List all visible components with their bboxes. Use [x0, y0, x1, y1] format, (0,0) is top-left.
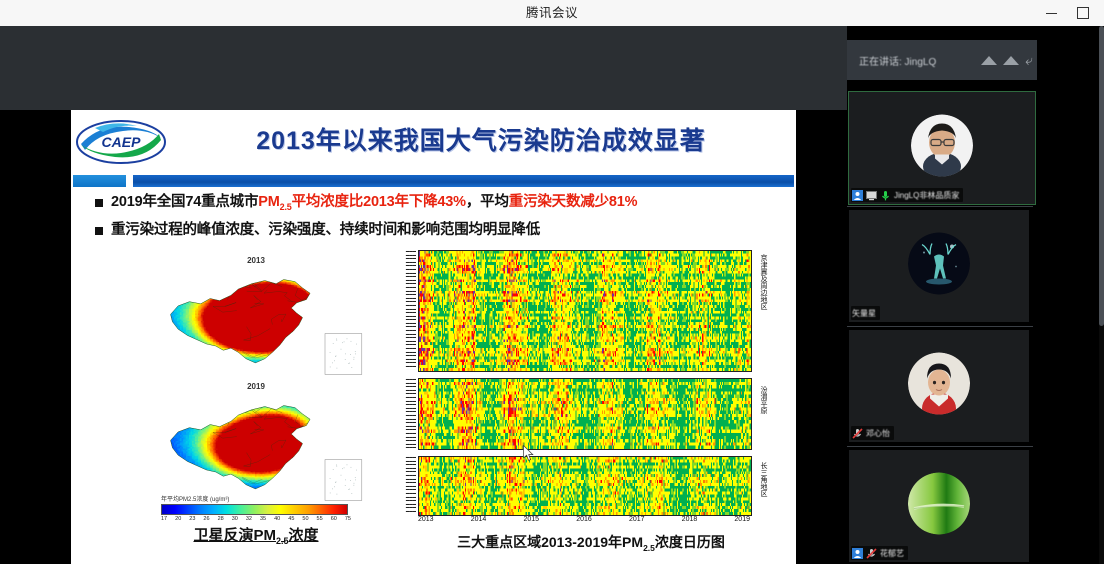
- colorbar-tick: 32: [246, 516, 252, 522]
- colorbar-gradient: [161, 504, 348, 515]
- mic-muted-icon: [866, 548, 877, 559]
- satellite-map-figure: 2013 2019 年平均PM2.5浓度 (ug/m³) 17202326283…: [131, 256, 381, 556]
- colorbar-tick: 45: [288, 516, 294, 522]
- colorbar-tick: 50: [302, 516, 308, 522]
- title-bar: 腾讯会议: [0, 0, 1104, 27]
- avatar: [908, 233, 970, 295]
- heatmap-panel-jingjinji: [418, 250, 752, 372]
- shared-screen-stage[interactable]: CAEP 2013年以来我国大气污染防治成效显著 2019年全国74重点城市PM…: [0, 26, 847, 564]
- x-tick: 2013: [418, 516, 434, 523]
- colorbar-tick: 75: [345, 516, 351, 522]
- participant-name-chip: JingLQ非林品质家: [851, 188, 963, 202]
- participants-sidebar: 正在讲话: JingLQ ⤶: [847, 26, 1104, 564]
- colorbar-tick: 60: [331, 516, 337, 522]
- back-arrow-icon[interactable]: ⤶: [1025, 53, 1033, 67]
- participant-name-chip: 矢量星: [851, 306, 880, 320]
- bullet-item: 重污染过程的峰值浓度、污染强度、持续时间和影响范围均明显降低: [95, 220, 785, 240]
- colorbar-title: 年平均PM2.5浓度 (ug/m³): [161, 494, 351, 503]
- active-speaker-bar: 正在讲话: JingLQ ⤶: [847, 40, 1037, 80]
- participant-name: JingLQ非林品质家: [894, 190, 959, 201]
- heatmap-ylabels-fenwei: ▬▬▬▬▬▬▬▬▬▬▬▬▬▬▬▬▬▬▬▬▬▬▬▬▬▬▬▬▬▬▬▬▬▬▬▬▬▬▬▬…: [398, 378, 416, 448]
- bullet-text-1: 2019年全国74重点城市PM2.5平均浓度比2013年下降43%，平均重污染天…: [111, 192, 637, 217]
- tile-divider: [847, 446, 1033, 447]
- region-label-jingjinji: 京津冀及周边地区: [756, 254, 770, 310]
- svg-text:CAEP: CAEP: [102, 134, 142, 150]
- colorbar-tick: 23: [189, 516, 195, 522]
- bullet-square-icon: [95, 199, 103, 207]
- x-tick: 2018: [682, 516, 698, 523]
- avatar: [911, 115, 973, 177]
- tencent-meeting-window: 腾讯会议 CAEP: [0, 0, 1104, 564]
- speaker-bar-controls: ⤶: [981, 53, 1037, 67]
- x-tick: 2019: [734, 516, 750, 523]
- heatmap-canvas-fenwei: [419, 379, 751, 449]
- bullet-square-icon: [95, 227, 103, 235]
- divider-bar-accent: [73, 175, 126, 187]
- active-speaker-label: 正在讲话: JingLQ: [847, 53, 936, 68]
- colorbar-ticks: 1720232628303235404550556075: [161, 516, 351, 522]
- participant-name-chip: 花郁艺: [851, 546, 908, 560]
- avatar: [908, 353, 970, 415]
- participant-name: 花郁艺: [880, 548, 904, 559]
- colorbar-tick: 35: [260, 516, 266, 522]
- slide-bullet-list: 2019年全国74重点城市PM2.5平均浓度比2013年下降43%，平均重污染天…: [95, 192, 785, 243]
- region-label-fenwei: 汾渭平原: [756, 386, 770, 414]
- tile-divider: [847, 326, 1033, 327]
- caep-logo-icon: CAEP: [75, 118, 167, 166]
- participant-name: 矢量星: [852, 308, 876, 319]
- x-tick: 2016: [576, 516, 592, 523]
- colorbar-tick: 30: [232, 516, 238, 522]
- avatar: [908, 473, 970, 535]
- participant-tile-2[interactable]: 邓心怡: [849, 330, 1029, 442]
- x-tick: 2015: [523, 516, 539, 523]
- host-icon: [852, 190, 863, 201]
- minimize-icon: [1046, 13, 1057, 14]
- bullet-text-2: 重污染过程的峰值浓度、污染强度、持续时间和影响范围均明显降低: [111, 220, 540, 240]
- x-tick: 2017: [629, 516, 645, 523]
- stage-letterbox-top: [0, 26, 847, 110]
- calendar-heatmap-figure: ▬▬▬▬▬▬▬▬▬▬▬▬▬▬▬▬▬▬▬▬▬▬▬▬▬▬▬▬▬▬▬▬▬▬▬▬▬▬▬▬…: [396, 250, 786, 550]
- heatmap-canvas-yangtze: [419, 457, 751, 515]
- colorbar-tick: 55: [317, 516, 323, 522]
- chevron-up-icon[interactable]: [1003, 56, 1019, 65]
- china-pm25-map-2013: [141, 264, 371, 384]
- slide-header: CAEP 2013年以来我国大气污染防治成效显著: [71, 110, 796, 172]
- presentation-slide: CAEP 2013年以来我国大气污染防治成效显著 2019年全国74重点城市PM…: [71, 110, 796, 564]
- maximize-icon: [1077, 7, 1089, 19]
- mic-muted-icon: [852, 428, 863, 439]
- china-pm25-map-2019: [141, 390, 371, 510]
- mouse-cursor-icon: [523, 445, 535, 462]
- tile-divider: [847, 206, 1033, 207]
- heatmap-ylabels-jingjinji: ▬▬▬▬▬▬▬▬▬▬▬▬▬▬▬▬▬▬▬▬▬▬▬▬▬▬▬▬▬▬▬▬▬▬▬▬▬▬▬▬…: [398, 250, 416, 370]
- bullet-item: 2019年全国74重点城市PM2.5平均浓度比2013年下降43%，平均重污染天…: [95, 192, 785, 217]
- window-controls: [1036, 0, 1098, 26]
- colorbar-tick: 40: [274, 516, 280, 522]
- heatmap-panel-fenwei: [418, 378, 752, 450]
- x-tick: 2014: [471, 516, 487, 523]
- divider-bar-main: [133, 175, 794, 187]
- left-figure-caption: 卫星反演PM2.5浓度: [131, 524, 381, 546]
- chevron-up-icon[interactable]: [981, 56, 997, 65]
- colorbar-tick: 26: [203, 516, 209, 522]
- window-title: 腾讯会议: [0, 0, 1104, 26]
- map-colorbar: 年平均PM2.5浓度 (ug/m³) 172023262830323540455…: [161, 494, 351, 522]
- screen-share-icon: [866, 190, 877, 201]
- participant-name-chip: 邓心怡: [851, 426, 894, 440]
- sidebar-scrollbar[interactable]: [1099, 26, 1104, 564]
- minimize-button[interactable]: [1036, 1, 1066, 25]
- heatmap-canvas-jingjinji: [419, 251, 751, 371]
- colorbar-tick: 17: [161, 516, 167, 522]
- slide-title: 2013年以来我国大气污染防治成效显著: [181, 118, 781, 164]
- slide-divider-bars: [71, 174, 796, 188]
- participant-name: 邓心怡: [866, 428, 890, 439]
- colorbar-tick: 20: [175, 516, 181, 522]
- right-figure-caption: 三大重点区域2013-2019年PM2.5浓度日历图: [381, 532, 796, 553]
- colorbar-tick: 28: [218, 516, 224, 522]
- participant-tile-0[interactable]: JingLQ非林品质家: [849, 92, 1035, 204]
- heatmap-panel-yangtze: [418, 456, 752, 516]
- mic-on-icon: [880, 190, 891, 201]
- heatmap-ylabels-yangtze: ▬▬▬▬▬▬▬▬▬▬▬▬▬▬▬▬▬▬▬▬▬▬▬▬▬▬▬▬▬▬▬▬▬▬▬▬▬▬▬▬…: [398, 456, 416, 514]
- host-icon: [852, 548, 863, 559]
- region-label-yangtze: 长三角地区: [756, 462, 770, 497]
- heatmap-x-axis-ticks: 2013201420152016201720182019: [418, 516, 750, 523]
- maximize-button[interactable]: [1068, 1, 1098, 25]
- participant-tile-1[interactable]: 矢量星: [849, 210, 1029, 322]
- participant-tile-3[interactable]: 花郁艺: [849, 450, 1029, 562]
- sidebar-scrollbar-thumb[interactable]: [1099, 26, 1104, 326]
